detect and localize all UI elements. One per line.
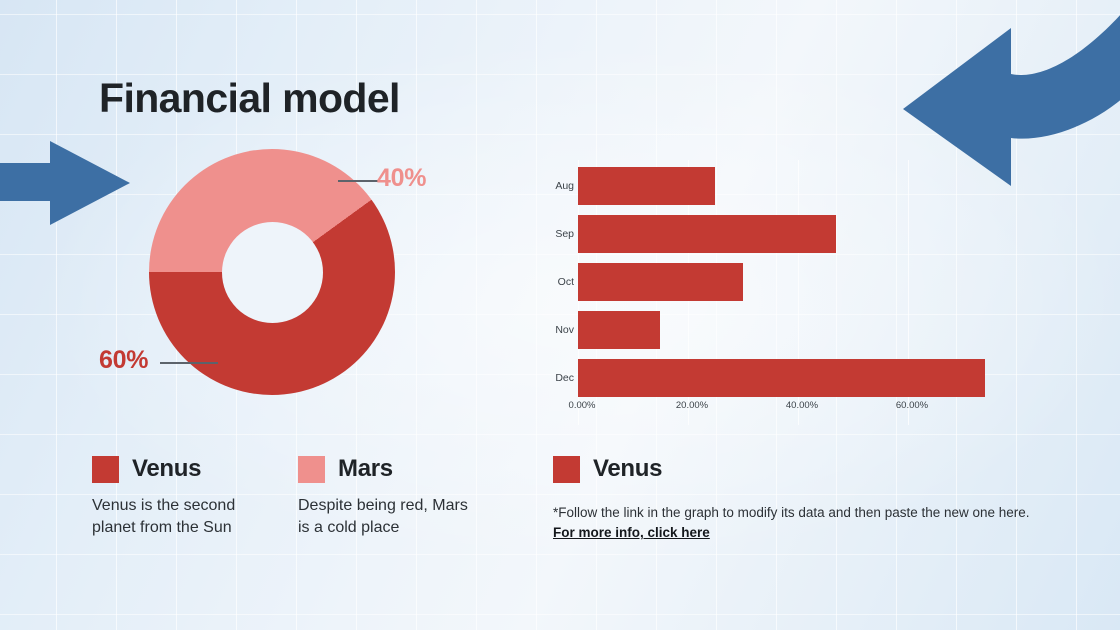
legend-swatch-series-venus [553,456,580,483]
donut-chart[interactable] [149,149,395,395]
bar-category-label: Nov [540,311,574,349]
bar-row: Aug [540,167,1010,205]
legend-venus-title: Venus [132,455,201,483]
footnote-text: *Follow the link in the graph to modify … [553,505,1030,520]
arrow-right-pointing-icon [0,137,132,229]
bar-row: Dec [540,359,1010,397]
x-axis-tick-label: 20.00% [676,400,708,411]
bar-nov[interactable] [578,311,660,349]
legend-series-header: Venus [553,455,1033,483]
legend-venus-header: Venus [92,455,267,483]
bar-row: Sep [540,215,1010,253]
bar-aug[interactable] [578,167,715,205]
donut-label-venus-percent: 60% [99,346,148,375]
legend-series-title: Venus [593,455,662,483]
bar-category-label: Dec [540,359,574,397]
bar-sep[interactable] [578,215,836,253]
x-axis-tick-label: 0.00% [569,400,596,411]
donut-hole [222,222,323,323]
x-axis-tick-label: 40.00% [786,400,818,411]
bar-chart[interactable]: Aug Sep Oct Nov Dec 0.00% 20.00% 40.00% … [540,160,1010,425]
page-title: Financial model [99,75,400,122]
legend-item-series-venus: Venus *Follow the link in the graph to m… [553,455,1033,544]
footnote: *Follow the link in the graph to modify … [553,503,1033,544]
legend-item-mars: Mars Despite being red, Mars is a cold p… [298,455,473,538]
legend-item-venus: Venus Venus is the second planet from th… [92,455,267,538]
bar-row: Nov [540,311,1010,349]
bar-category-label: Oct [540,263,574,301]
x-axis-tick-label: 60.00% [896,400,928,411]
legend-mars-title: Mars [338,455,393,483]
callout-leader-line-60 [160,362,218,364]
bar-dec[interactable] [578,359,985,397]
donut-label-mars-percent: 40% [377,164,426,193]
legend-venus-description: Venus is the second planet from the Sun [92,495,267,538]
bar-row: Oct [540,263,1010,301]
bar-oct[interactable] [578,263,743,301]
legend-mars-header: Mars [298,455,473,483]
bar-category-label: Aug [540,167,574,205]
legend-mars-description: Despite being red, Mars is a cold place [298,495,473,538]
footnote-link[interactable]: For more info, click here [553,525,710,540]
legend-swatch-venus [92,456,119,483]
legend-swatch-mars [298,456,325,483]
bar-category-label: Sep [540,215,574,253]
